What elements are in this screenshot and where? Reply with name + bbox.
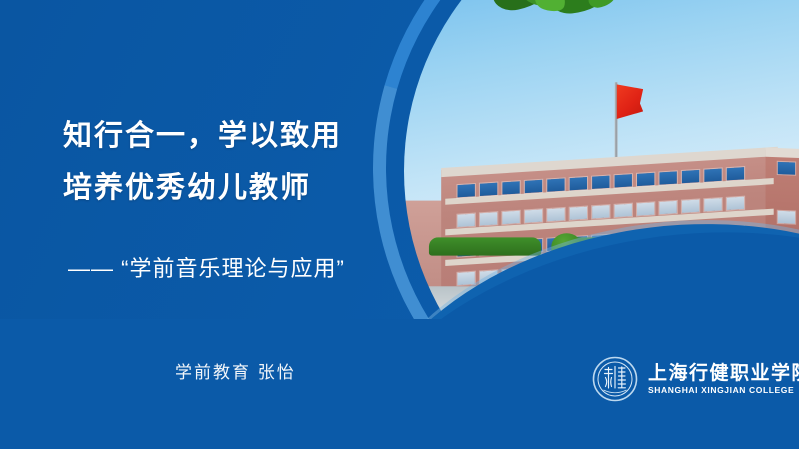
college-logo-text: 上海行健职业学院 SHANGHAI XINGJIAN COLLEGE [648,364,799,395]
author-line: 学前教育 张怡 [175,358,296,383]
text-block: 知行合一，学以致用 培养优秀幼儿教师 —— “学前音乐理论与应用” 学前教育 张… [0,0,420,449]
college-name-en: SHANGHAI XINGJIAN COLLEGE [648,386,799,395]
college-name-cn: 上海行健职业学院 [648,364,799,383]
college-logo: 上海行健职业学院 SHANGHAI XINGJIAN COLLEGE [592,356,799,402]
subtitle: —— “学前音乐理论与应用” [68,251,345,283]
university-seal-icon [592,356,638,402]
page-title-line-2: 培养优秀幼儿教师 [63,164,311,206]
tree-foliage-icon [486,0,639,41]
title-slide: 知行合一，学以致用 培养优秀幼儿教师 —— “学前音乐理论与应用” 学前教育 张… [0,0,799,449]
hedge [429,237,541,255]
page-title-line-1: 知行合一，学以致用 [63,112,342,154]
